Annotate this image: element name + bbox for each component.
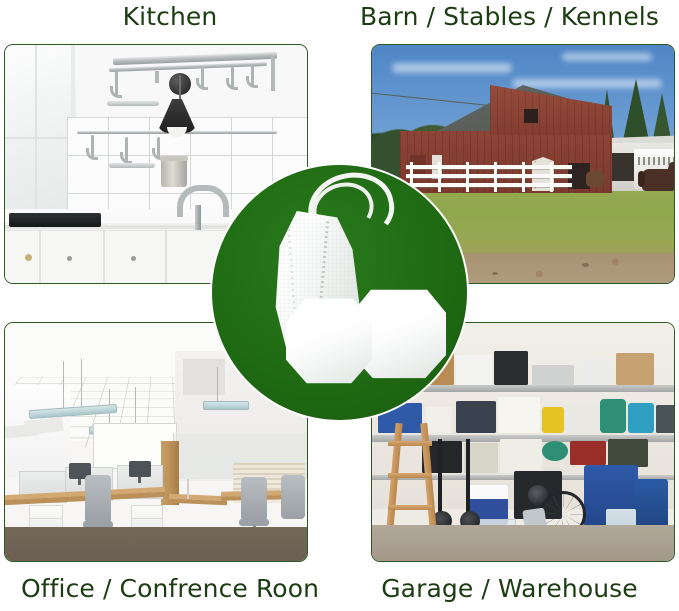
office-monitor-stand (138, 477, 141, 483)
barn-dirt-patch (582, 263, 589, 267)
kitchen-rail-bracket (271, 57, 275, 91)
barn-fence-post (522, 162, 525, 192)
desiccant-block-front (286, 295, 372, 385)
barn-fence-post (494, 162, 497, 192)
garage-garden-hose (542, 441, 568, 461)
garage-cardboard-box (616, 353, 654, 385)
barn-fence-post (550, 162, 553, 192)
office-chair-back (85, 475, 111, 523)
kitchen-utensil-hook (251, 65, 254, 87)
garage-black-case (494, 351, 528, 385)
kitchen-cabinet-seam (103, 231, 105, 283)
barn-horse-tail (638, 171, 645, 187)
kitchen-cabinets (5, 230, 225, 283)
kitchen-rail-bracket (155, 71, 159, 83)
office-chair-back (241, 477, 267, 521)
office-drawer-seam (132, 518, 162, 519)
office-monitor-stand (78, 479, 81, 485)
barn-cloud (562, 53, 652, 61)
office-drawer-seam (30, 518, 62, 519)
office-light-rod (63, 361, 64, 409)
caption-garage-warehouse: Garage / Warehouse (340, 576, 679, 601)
garage-ladder-step (388, 505, 432, 510)
kitchen-towel-bar (107, 101, 159, 106)
garage-concrete-floor (372, 525, 674, 561)
garage-watering-can (600, 399, 626, 433)
kitchen-oven-knob (25, 254, 32, 261)
office-monitor (129, 461, 151, 477)
kitchen-utensil-hook (115, 69, 118, 97)
product-photo (212, 165, 467, 420)
garage-yellow-container (542, 407, 564, 433)
garage-storage-box (578, 359, 612, 385)
barn-cloud (392, 63, 512, 73)
kitchen-cabinet-seam (165, 231, 167, 283)
desiccant-block-face (286, 295, 372, 385)
garage-ladder-step (388, 441, 432, 446)
office-chair-back (281, 475, 305, 519)
barn-loft-window (524, 109, 538, 123)
kitchen-induction-hob (9, 213, 101, 227)
caption-office-conference-room: Office / Confrence Roon (0, 576, 340, 601)
kitchen-utensil-hook (231, 67, 234, 89)
caption-kitchen: Kitchen (0, 4, 340, 29)
kitchen-drawer-knob (131, 256, 136, 261)
collage-board: Kitchen Barn / Stables / Kennels Office … (0, 0, 679, 611)
office-carpet-floor (5, 527, 307, 561)
garage-white-box (498, 397, 540, 433)
garage-grey-bin (656, 405, 674, 433)
office-light-rod (81, 359, 82, 409)
garage-ladder-step (388, 473, 432, 478)
kitchen-utensil-handle (109, 163, 155, 168)
kitchen-utensil-hook (125, 137, 128, 163)
center-product-badge (212, 165, 467, 420)
garage-white-box (500, 439, 542, 473)
garage-plastic-tub (532, 365, 574, 385)
garage-blue-bucket (628, 403, 654, 433)
kitchen-utensil-hook (201, 67, 204, 89)
office-desk-lamp (187, 475, 189, 499)
garage-white-box (566, 403, 600, 433)
kitchen-utensil-hook (91, 135, 94, 159)
barn-small-animal (586, 171, 604, 187)
kitchen-metal-pot (161, 159, 187, 187)
kitchen-drawer-knob (67, 256, 72, 261)
garage-green-bag (608, 439, 648, 467)
caption-barn-stables-kennels: Barn / Stables / Kennels (340, 4, 679, 29)
office-light-rod (135, 387, 136, 427)
garage-red-bag (570, 441, 606, 465)
kitchen-cabinet-seam (39, 231, 41, 283)
barn-horse (642, 169, 674, 191)
barn-dirt-patch (492, 272, 498, 275)
